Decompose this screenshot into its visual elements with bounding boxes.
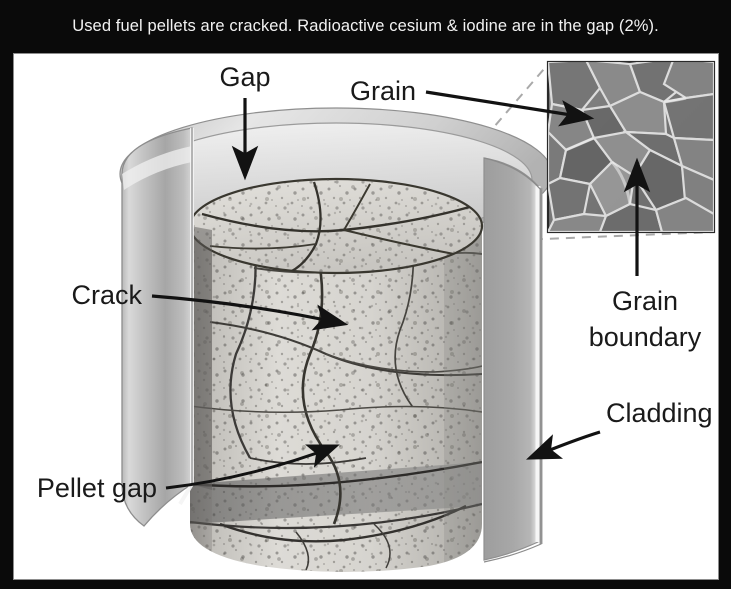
- fuel-pellet: [184, 174, 494, 579]
- cladding-left-shell: [122, 128, 192, 526]
- screenshot-root: Used fuel pellets are cracked. Radioacti…: [0, 0, 731, 589]
- label-cladding: Cladding: [530, 398, 713, 458]
- label-cladding-text: Cladding: [606, 398, 713, 428]
- figure-panel: Gap Grain Grain boundary Crack Pelle: [13, 53, 719, 580]
- fuel-rod-diagram: Gap Grain Grain boundary Crack Pelle: [14, 54, 718, 579]
- label-pellet-gap-text: Pellet gap: [37, 473, 157, 503]
- cladding-right-shell: [484, 158, 538, 560]
- caption-bar: Used fuel pellets are cracked. Radioacti…: [0, 0, 731, 53]
- label-grain-boundary-line2: boundary: [589, 322, 702, 352]
- label-grain-text: Grain: [350, 76, 416, 106]
- grain-micrograph-inset: [548, 58, 714, 232]
- caption-text: Used fuel pellets are cracked. Radioacti…: [72, 17, 659, 36]
- label-grain-boundary-line1: Grain: [612, 286, 678, 316]
- label-crack-text: Crack: [71, 280, 142, 310]
- label-gap-text: Gap: [219, 62, 270, 92]
- micrograph-grains: [548, 58, 714, 232]
